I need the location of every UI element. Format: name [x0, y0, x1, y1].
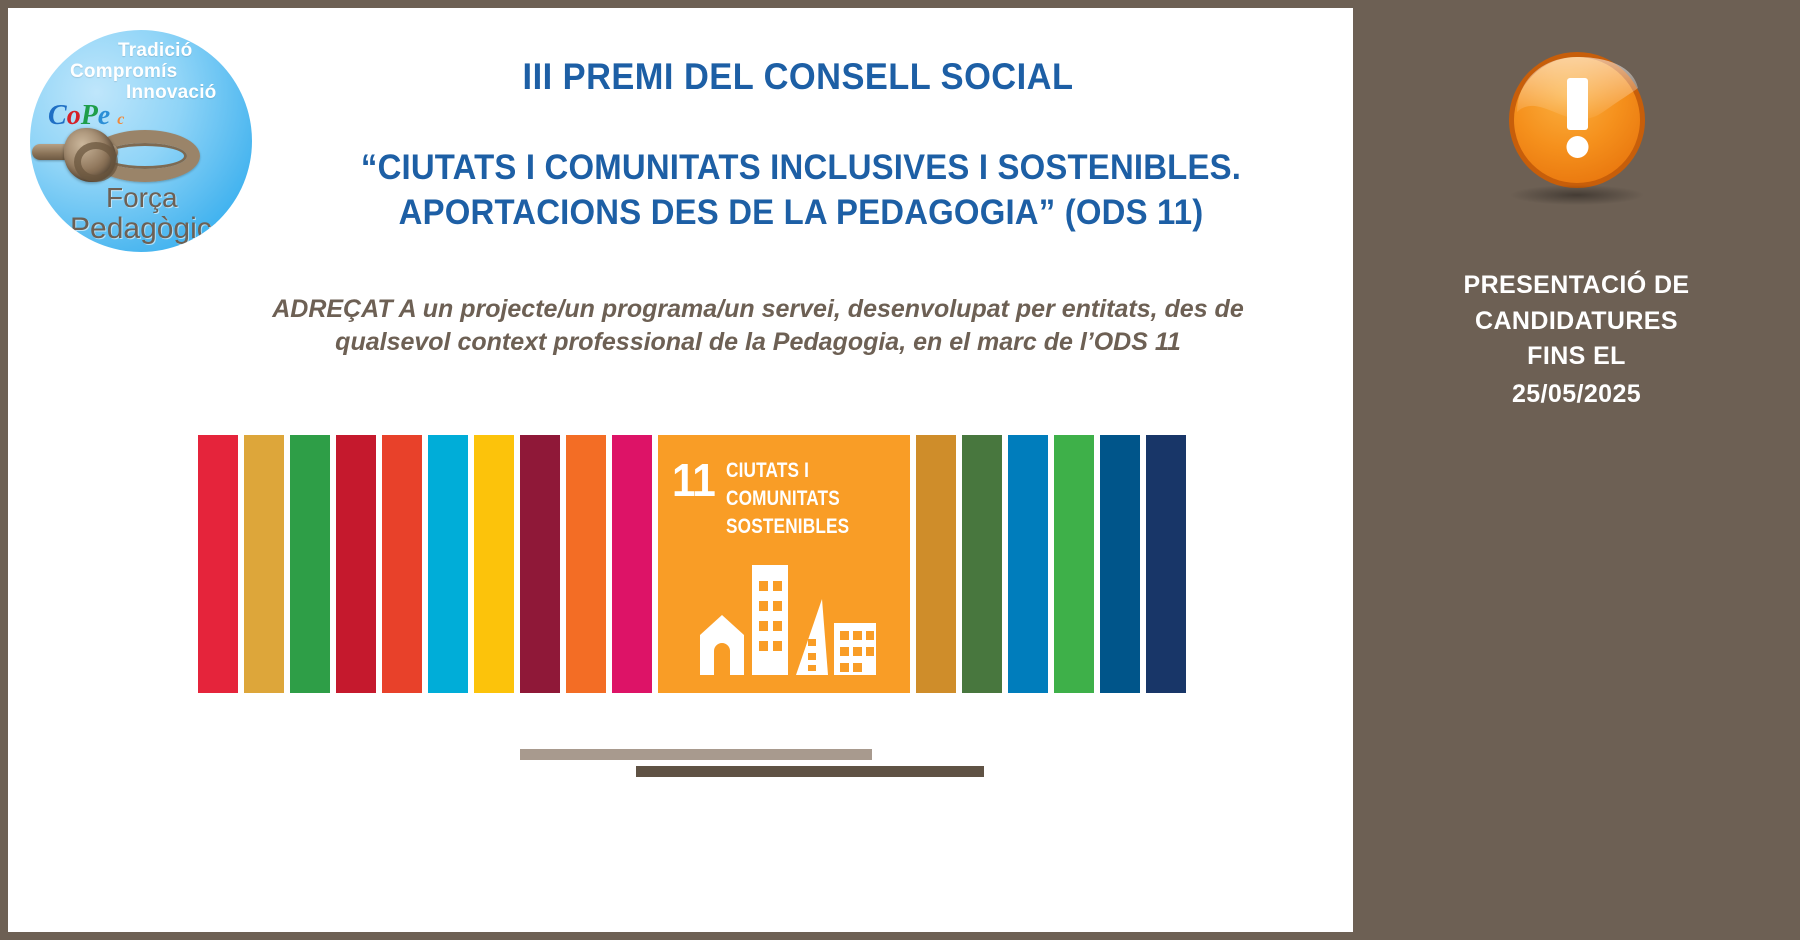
sdg-bar-13	[962, 435, 1002, 693]
exclamation-icon	[1507, 50, 1647, 190]
poster-subtitle-line-1: “CIUTATS I COMUNITATS INCLUSIVES I SOSTE…	[289, 146, 1314, 191]
deadline-date: 25/05/2025	[1353, 377, 1800, 413]
sdg-bar-17	[1146, 435, 1186, 693]
sdg-goal-title-line-2: COMUNITATS	[726, 485, 849, 513]
sdg-bar-10	[612, 435, 652, 693]
sdg-goal-number: 11	[672, 457, 715, 503]
logo-tagline-3: Innovació	[126, 82, 216, 104]
logo-tagline-1: Tradició	[118, 40, 192, 62]
sdg-bar-2	[244, 435, 284, 693]
deadline-line-3: FINS EL	[1353, 339, 1800, 375]
organization-logo: Tradició Compromís Innovació CoPe c Forç…	[30, 30, 252, 252]
sdg-bar-1	[198, 435, 238, 693]
logo-letter-c: C	[48, 100, 67, 131]
sdg-bar-5	[382, 435, 422, 693]
sdg-goal-title: CIUTATS I COMUNITATS SOSTENIBLES	[726, 457, 849, 541]
description-line-1: ADREÇAT A un projecte/un programa/un ser…	[183, 293, 1333, 326]
poster-description: ADREÇAT A un projecte/un programa/un ser…	[183, 293, 1333, 359]
deadline-text: PRESENTACIÓ DE CANDIDATURES FINS EL 25/0…	[1353, 268, 1800, 412]
logo-circle: Tradició Compromís Innovació CoPe c Forç…	[30, 30, 252, 252]
logo-word-pedagogica: Pedagògica	[70, 212, 228, 246]
logo-word-forca: Força	[106, 182, 178, 214]
logo-wordmark: CoPe c	[48, 102, 124, 130]
decorative-bar-light	[520, 749, 872, 760]
logo-letter-o: o	[67, 100, 81, 131]
deadline-line-2: CANDIDATURES	[1353, 304, 1800, 340]
logo-letter-e: e	[98, 100, 110, 131]
rope-knot-icon	[32, 128, 202, 188]
poster-subtitle-line-2: APORTACIONS DES DE LA PEDAGOGIA” (ODS 11…	[289, 191, 1314, 236]
sdg-bar-7	[474, 435, 514, 693]
description-line-2: qualsevol context professional de la Ped…	[183, 326, 1333, 359]
logo-tagline-2: Compromís	[70, 61, 177, 83]
sdg-goal-title-line-1: CIUTATS I	[726, 457, 849, 485]
deadline-sidebar: PRESENTACIÓ DE CANDIDATURES FINS EL 25/0…	[1353, 0, 1800, 940]
poster-title: III PREMI DEL CONSELL SOCIAL	[305, 56, 1291, 98]
sdg-bar-8	[520, 435, 560, 693]
deadline-line-1: PRESENTACIÓ DE	[1353, 268, 1800, 304]
poster-subtitle: “CIUTATS I COMUNITATS INCLUSIVES I SOSTE…	[289, 146, 1314, 236]
poster-root: Tradició Compromís Innovació CoPe c Forç…	[0, 0, 1800, 940]
sdg-bar-9	[566, 435, 606, 693]
logo-letter-p: P	[81, 100, 98, 131]
sdg-bar-4	[336, 435, 376, 693]
city-buildings-icon	[700, 565, 876, 675]
alert-icon-shadow	[1511, 185, 1643, 205]
sdg-bar-16	[1100, 435, 1140, 693]
sdg-bar-14	[1008, 435, 1048, 693]
sdg-bar-12	[916, 435, 956, 693]
sdg-bar-15	[1054, 435, 1094, 693]
sdg-goal-title-line-3: SOSTENIBLES	[726, 513, 849, 541]
sdg-bar-6	[428, 435, 468, 693]
sdg-goal-11-card: 11 CIUTATS I COMUNITATS SOSTENIBLES	[658, 435, 910, 693]
poster-white-card: Tradició Compromís Innovació CoPe c Forç…	[8, 8, 1353, 932]
sdg-goals-strip: 11 CIUTATS I COMUNITATS SOSTENIBLES	[198, 435, 1280, 693]
decorative-bar-dark	[636, 766, 984, 777]
logo-letter-c2: c	[117, 111, 124, 128]
sdg-bar-3	[290, 435, 330, 693]
